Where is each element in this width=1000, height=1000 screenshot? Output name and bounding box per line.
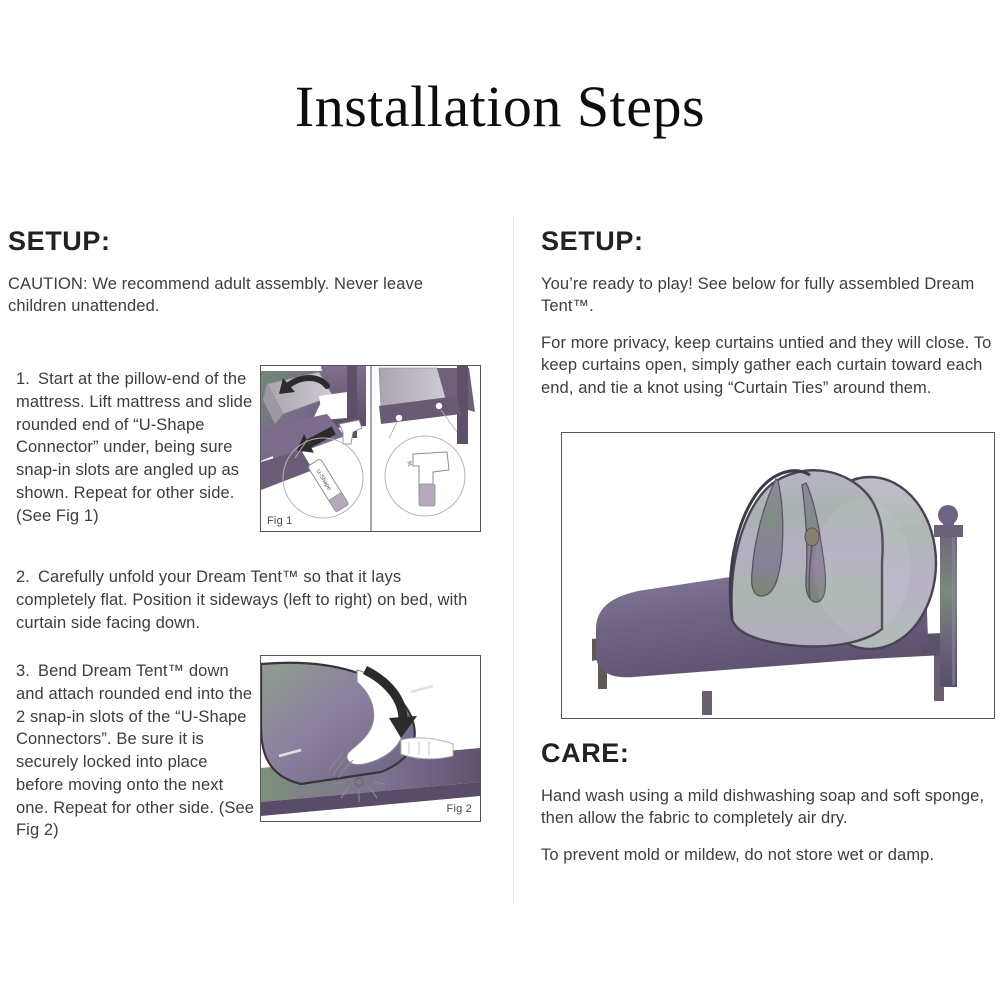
assembled-tent-svg [562, 433, 994, 718]
left-column: SETUP: CAUTION: We recommend adult assem… [8, 228, 486, 332]
step-2-number: 2. [16, 566, 38, 589]
step-2-text: Carefully unfold your Dream Tent™ so tha… [16, 568, 467, 632]
step-3-text: Bend Dream Tent™ down and attach rounded… [16, 662, 254, 839]
step-2: 2. Carefully unfold your Dream Tent™ so … [16, 566, 478, 634]
ready-to-play-text: You’re ready to play! See below for full… [541, 273, 992, 318]
left-setup-heading: SETUP: [8, 228, 486, 255]
right-setup-heading: SETUP: [541, 228, 992, 255]
care-wash-text: Hand wash using a mild dishwashing soap … [541, 785, 992, 830]
step-1: 1. Start at the pillow-end of the mattre… [16, 368, 256, 527]
figure-2-label: Fig 2 [447, 803, 472, 815]
figure-2-svg [261, 656, 480, 821]
column-divider [513, 215, 514, 905]
curtain-instructions-text: For more privacy, keep curtains untied a… [541, 332, 992, 399]
step-1-number: 1. [16, 368, 38, 391]
care-storage-text: To prevent mold or mildew, do not store … [541, 844, 992, 866]
step-3: 3. Bend Dream Tent™ down and attach roun… [16, 660, 256, 842]
figure-2-illustration: Fig 2 [260, 655, 481, 822]
figure-1-svg: U-Shape fit [261, 366, 480, 531]
care-heading: CARE: [541, 740, 992, 767]
figure-1-illustration: U-Shape fit Fig 1 [260, 365, 481, 532]
assembled-tent-illustration [561, 432, 995, 719]
step-1-text: Start at the pillow-end of the mattress.… [16, 370, 252, 525]
step-3-number: 3. [16, 660, 38, 683]
caution-text: CAUTION: We recommend adult assembly. Ne… [8, 273, 486, 318]
figure-1-label: Fig 1 [267, 515, 292, 527]
care-section: CARE: Hand wash using a mild dishwashing… [541, 740, 992, 880]
right-column: SETUP: You’re ready to play! See below f… [541, 228, 992, 413]
page-title: Installation Steps [0, 78, 1000, 136]
